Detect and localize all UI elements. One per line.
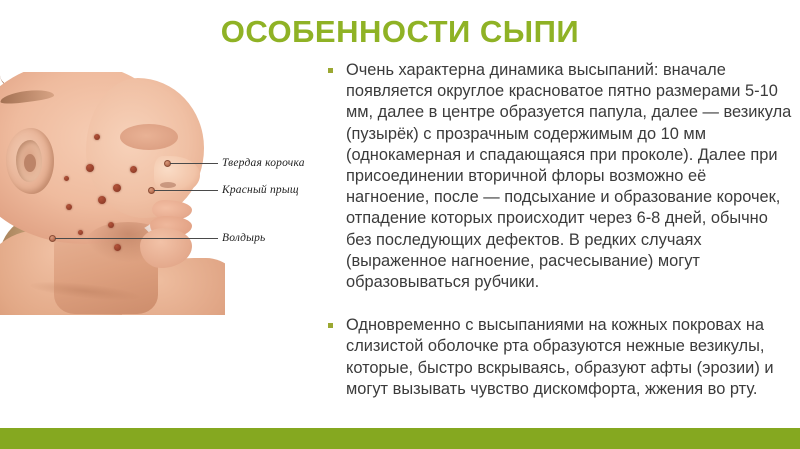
bullet-paragraph-text: Одновременно с высыпаниями на кожных пок…	[346, 316, 773, 398]
callout-leader-hard-crust	[170, 163, 218, 164]
page-title: ОСОБЕННОСТИ СЫПИ	[0, 14, 800, 50]
bullet-paragraph: Одновременно с высыпаниями на кожных пок…	[326, 315, 792, 400]
bullet-paragraph: Очень характерна динамика высыпаний: вна…	[326, 60, 792, 293]
rash-spot	[98, 196, 106, 204]
ear-canal-shape	[24, 154, 36, 172]
nostril-shape	[160, 182, 176, 188]
rash-spot	[64, 176, 69, 181]
eye-socket-shape	[120, 124, 178, 150]
callout-label-red-pimple: Красный прыщ	[222, 184, 299, 196]
rash-spot	[66, 204, 72, 210]
illustration-bottom-mask	[0, 315, 225, 317]
square-bullet-icon	[328, 68, 333, 73]
callout-leader-red-pimple	[154, 190, 218, 191]
callout-label-blister: Волдырь	[222, 232, 266, 244]
rash-spot	[78, 230, 83, 235]
callout-leader-blister	[55, 238, 218, 239]
rash-spot	[108, 222, 114, 228]
rash-spot	[114, 244, 121, 251]
rash-illustration	[0, 72, 225, 317]
rash-spot	[94, 134, 100, 140]
body-text-column: Очень характерна динамика высыпаний: вна…	[326, 60, 792, 400]
slide-root: { "slide": { "title": "ОСОБЕННОСТИ СЫПИ"…	[0, 0, 800, 449]
square-bullet-icon	[328, 323, 333, 328]
bullet-paragraph-text: Очень характерна динамика высыпаний: вна…	[346, 61, 791, 291]
rash-spot	[86, 164, 94, 172]
rash-spot	[130, 166, 137, 173]
footer-accent-band	[0, 428, 800, 449]
callout-label-hard-crust: Твердая корочка	[222, 157, 305, 169]
rash-spot	[113, 184, 121, 192]
